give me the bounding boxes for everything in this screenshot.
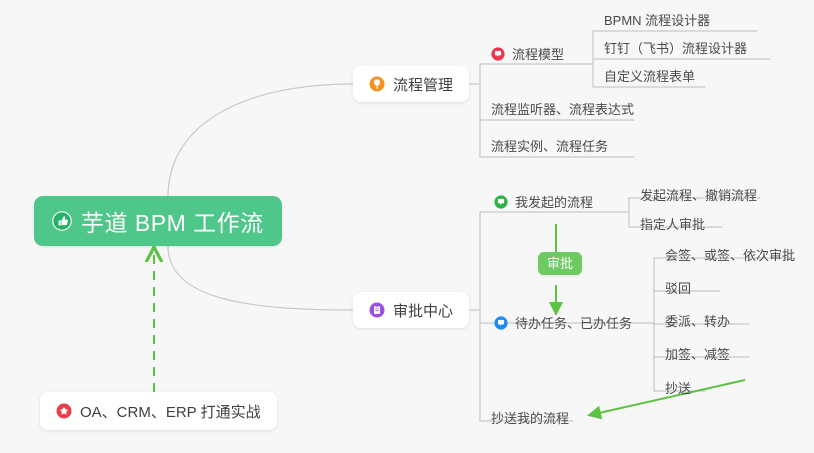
leaf-dingtalk-feishu-designer[interactable]: 钉钉（飞书）流程设计器 <box>604 42 747 55</box>
node-my-initiated[interactable]: 我发起的流程 <box>494 195 593 209</box>
star-icon <box>56 403 72 419</box>
leaf-process-instance-task[interactable]: 流程实例、流程任务 <box>491 140 608 153</box>
leaf-delegate-transfer[interactable]: 委派、转办 <box>665 315 730 328</box>
flag-red-icon <box>491 47 505 61</box>
branch-label-approval-center: 审批中心 <box>393 300 453 321</box>
leaf-cc-to-me-process[interactable]: 抄送我的流程 <box>491 412 569 425</box>
lightbulb-icon <box>369 76 385 92</box>
note-node[interactable]: OA、CRM、ERP 打通实战 <box>40 392 277 430</box>
leaf-start-cancel-process[interactable]: 发起流程、撤销流程 <box>640 189 757 202</box>
leaf-custom-process-form[interactable]: 自定义流程表单 <box>604 70 695 83</box>
leaf-add-remove-sign[interactable]: 加签、减签 <box>665 348 730 361</box>
flag-green-icon <box>494 195 508 209</box>
mindmap-canvas: 芋道 BPM 工作流 OA、CRM、ERP 打通实战 流程管理 <box>0 0 814 453</box>
thumbs-up-icon <box>52 211 72 231</box>
node-my-initiated-label: 我发起的流程 <box>515 196 593 209</box>
leaf-bpmn-designer[interactable]: BPMN 流程设计器 <box>604 14 710 27</box>
node-todo-done-tasks-label: 待办任务、已办任务 <box>515 317 632 330</box>
leaf-reject[interactable]: 驳回 <box>665 282 691 295</box>
flag-blue-icon <box>494 316 508 330</box>
leaf-cc[interactable]: 抄送 <box>665 382 691 395</box>
leaf-countersign[interactable]: 会签、或签、依次审批 <box>665 249 795 262</box>
branch-label-process-management: 流程管理 <box>393 74 453 95</box>
branch-node-process-management[interactable]: 流程管理 <box>353 66 469 102</box>
node-process-model-label: 流程模型 <box>512 48 564 61</box>
leaf-assigned-approver[interactable]: 指定人审批 <box>640 218 705 231</box>
leaf-process-listener-expression[interactable]: 流程监听器、流程表达式 <box>491 103 634 116</box>
node-todo-done-tasks[interactable]: 待办任务、已办任务 <box>494 316 632 330</box>
root-node[interactable]: 芋道 BPM 工作流 <box>34 196 282 246</box>
approval-annotation-badge[interactable]: 审批 <box>538 252 582 275</box>
root-label: 芋道 BPM 工作流 <box>81 204 264 238</box>
clipboard-purple-icon <box>369 302 385 318</box>
branch-node-approval-center[interactable]: 审批中心 <box>353 292 469 328</box>
note-label: OA、CRM、ERP 打通实战 <box>80 401 261 422</box>
node-process-model[interactable]: 流程模型 <box>491 47 564 61</box>
